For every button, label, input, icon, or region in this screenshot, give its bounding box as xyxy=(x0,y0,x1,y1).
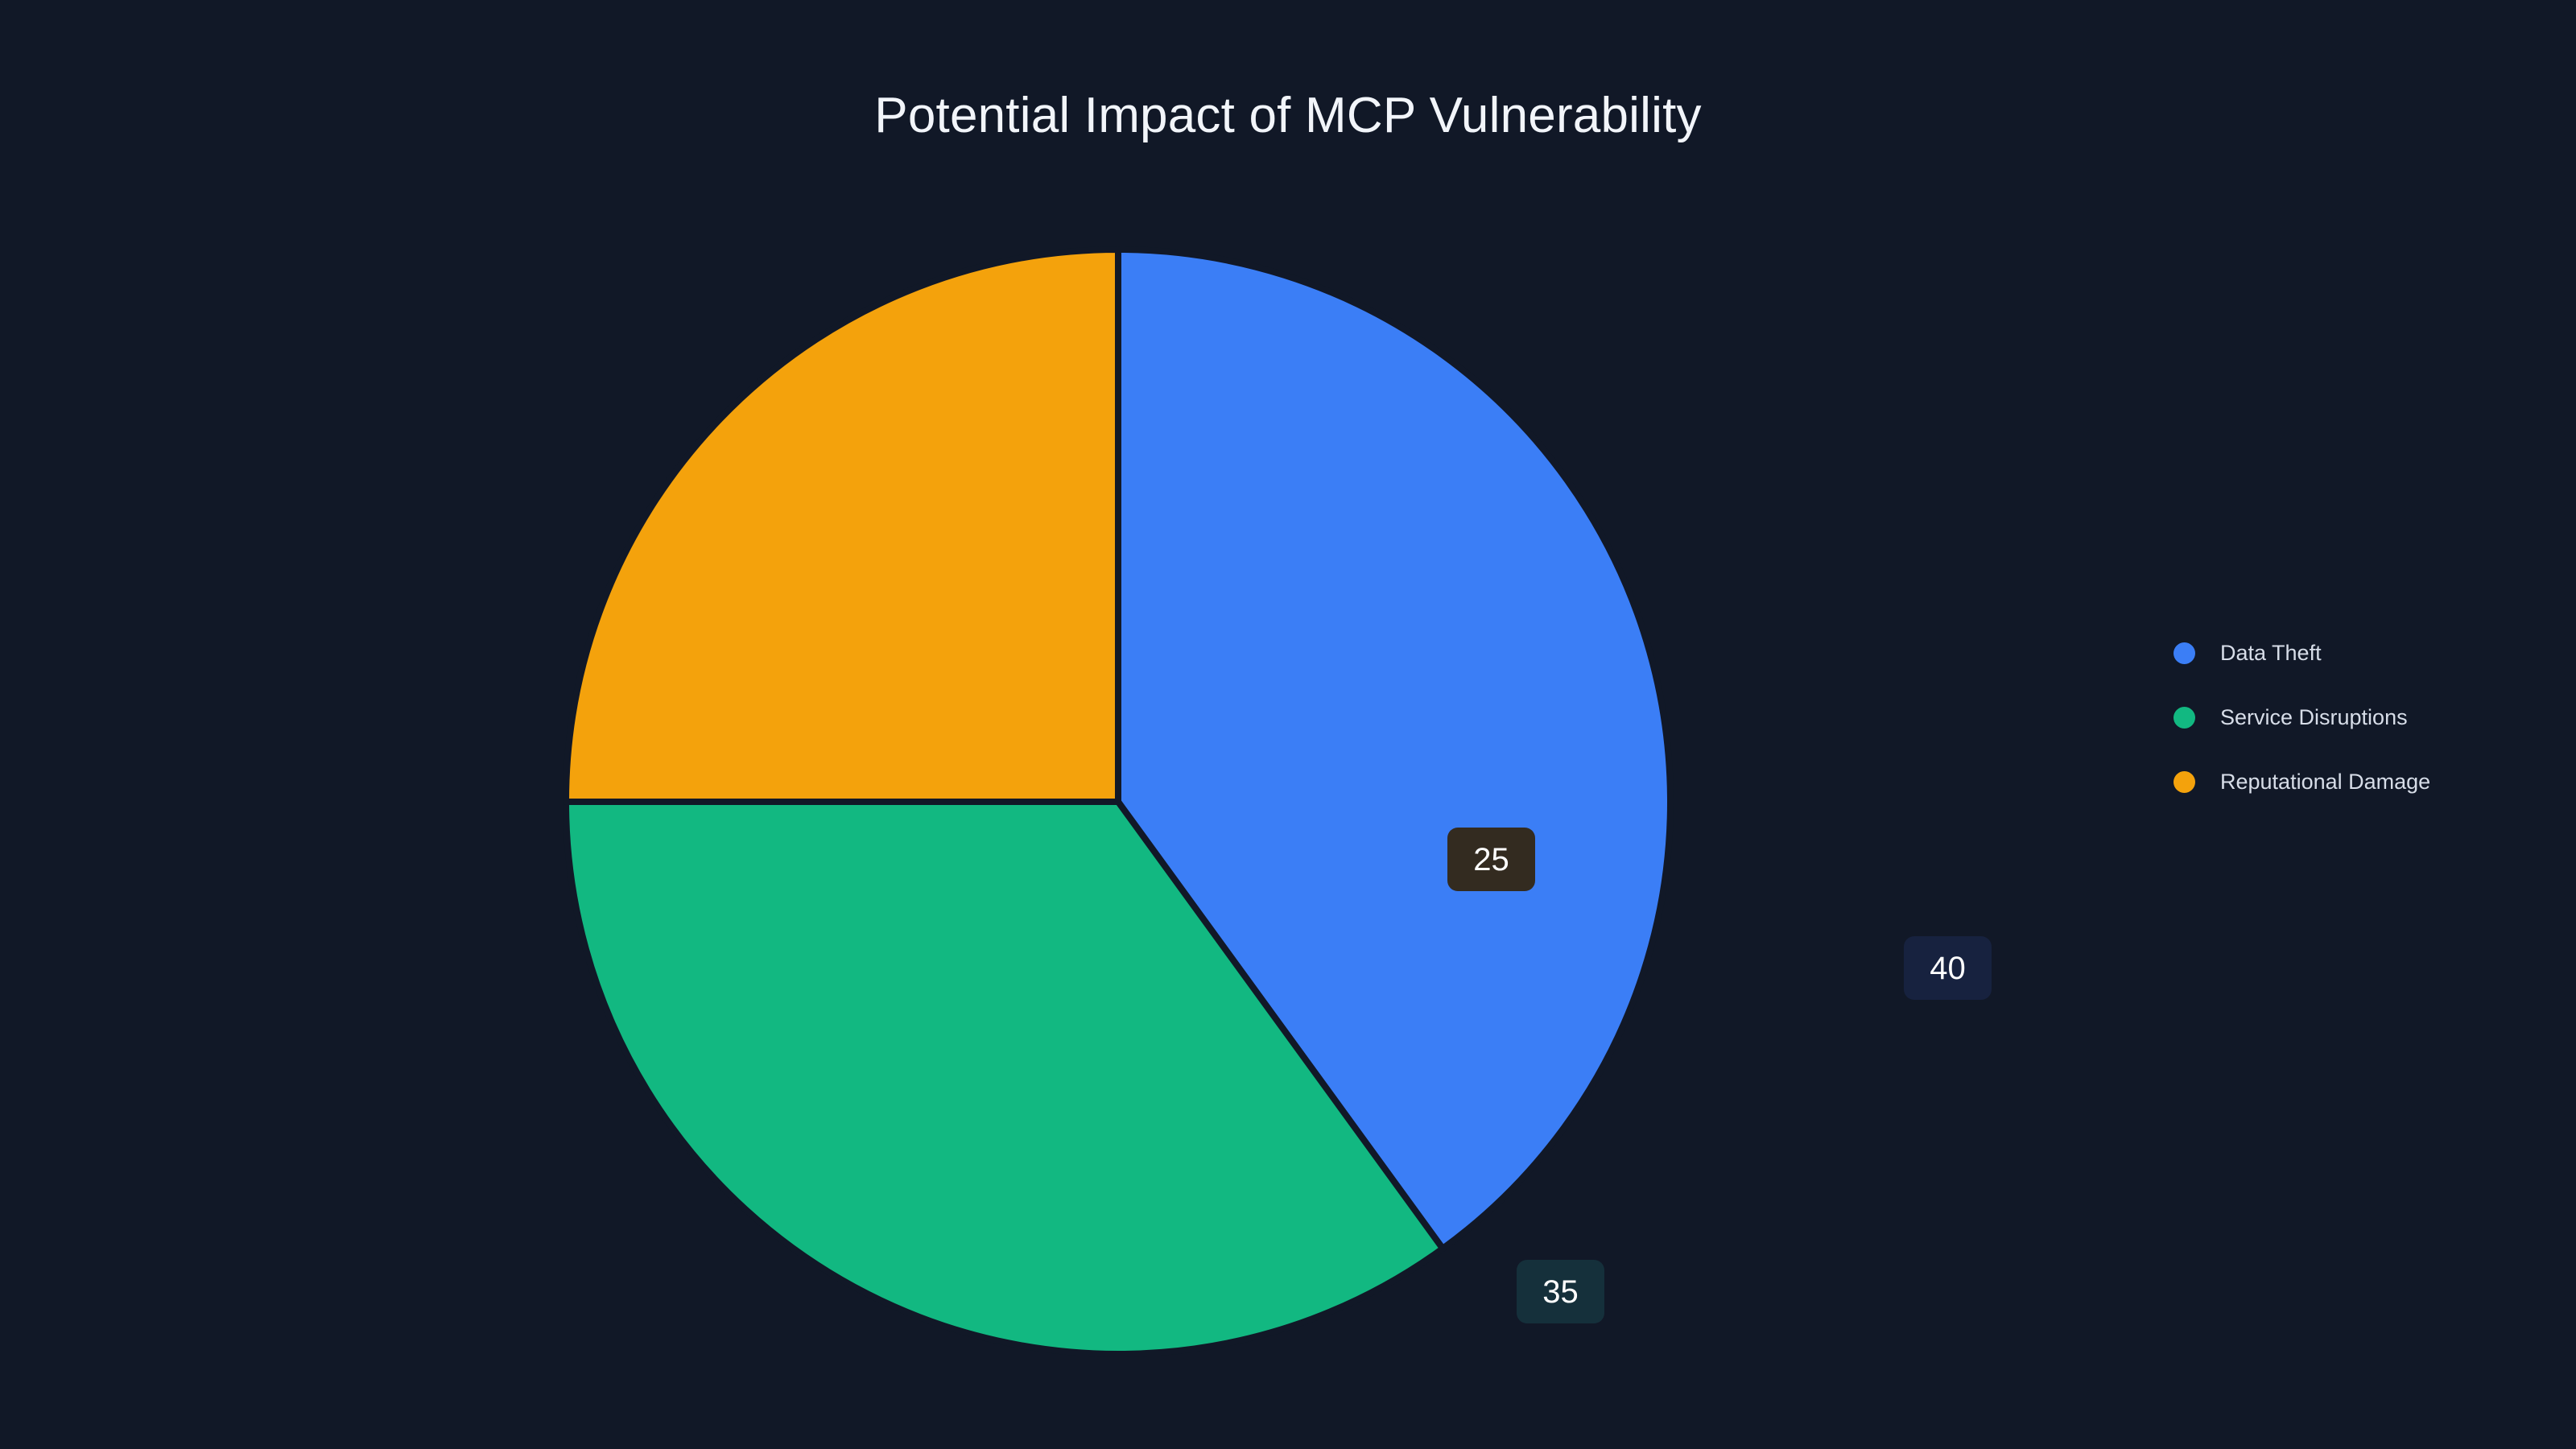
pie-svg xyxy=(566,250,1670,1354)
legend-item-label: Data Theft xyxy=(2220,641,2322,666)
legend-color-swatch-icon xyxy=(2173,771,2195,793)
chart-canvas: Potential Impact of MCP Vulnerability 40… xyxy=(0,0,2576,1449)
pie-slice-value-label: 40 xyxy=(1904,936,1992,1000)
pie-slice-value-label: 25 xyxy=(1447,828,1535,891)
legend-item-label: Reputational Damage xyxy=(2220,770,2430,795)
legend-color-swatch-icon xyxy=(2173,707,2195,729)
legend-item-reputational-damage[interactable]: Reputational Damage xyxy=(2173,768,2430,795)
page-title: Potential Impact of MCP Vulnerability xyxy=(0,87,2576,144)
legend-color-swatch-icon xyxy=(2173,642,2195,664)
pie-slice-value-label: 35 xyxy=(1517,1260,1604,1323)
legend-item-service-disruptions[interactable]: Service Disruptions xyxy=(2173,704,2430,731)
legend-item-data-theft[interactable]: Data Theft xyxy=(2173,639,2430,667)
pie-chart: 40 35 25 xyxy=(566,250,1670,1354)
legend-item-label: Service Disruptions xyxy=(2220,705,2408,730)
pie-slice-reputational-damage[interactable] xyxy=(566,250,1118,802)
chart-legend: Data Theft Service Disruptions Reputatio… xyxy=(2173,639,2430,795)
